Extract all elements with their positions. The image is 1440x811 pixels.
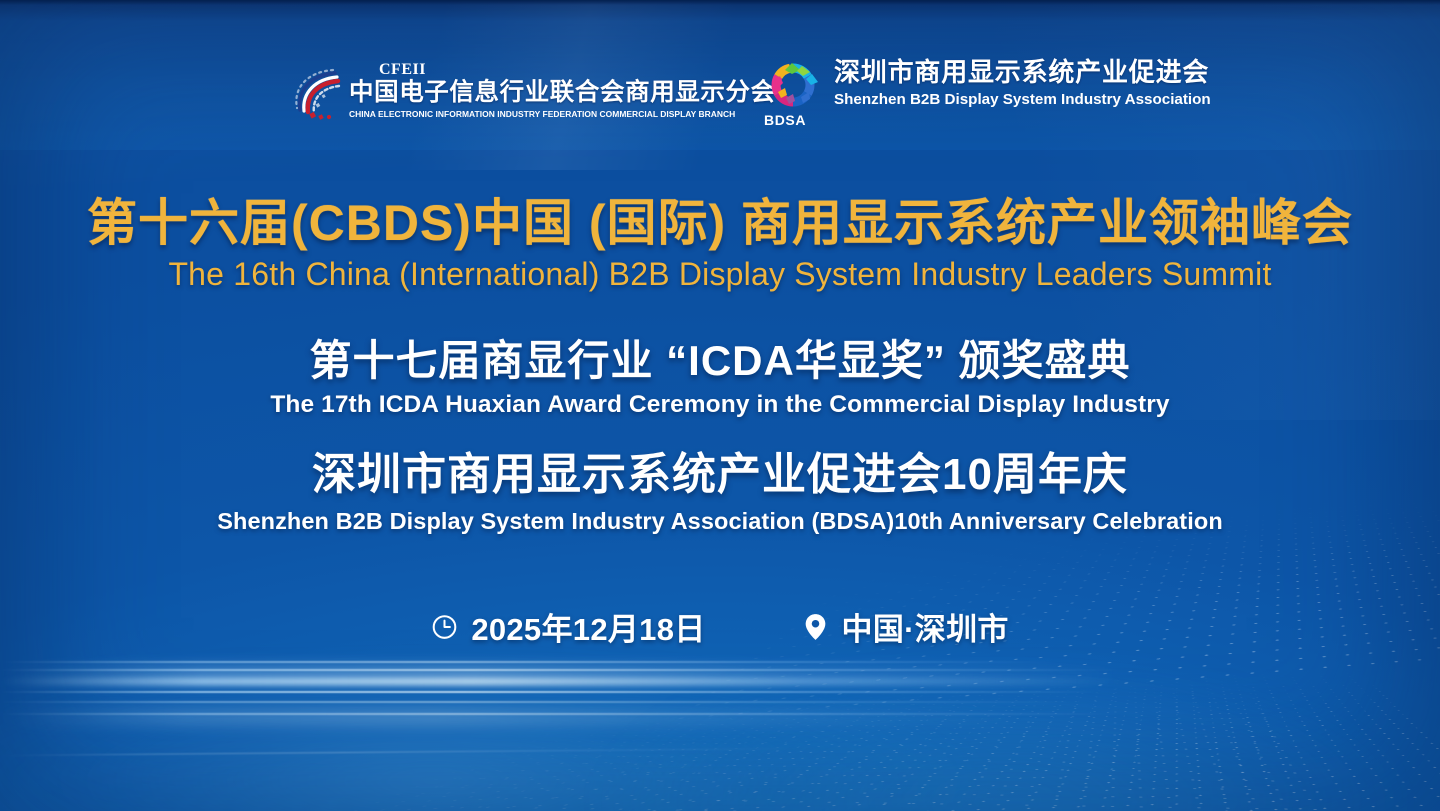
cfeii-name-en: CHINA ELECTRONIC INFORMATION INDUSTRY FE… — [349, 109, 769, 119]
event-location-text: 中国·深圳市 — [842, 604, 1009, 649]
background-light-streaks — [0, 551, 1123, 811]
event-meta-row: 2025年12月18日 中国·深圳市 — [0, 604, 1440, 649]
anniversary-title-en: Shenzhen B2B Display System Industry Ass… — [0, 507, 1440, 535]
event-location: 中国·深圳市 — [802, 604, 1009, 649]
anniversary-title-cn: 深圳市商用显示系统产业促进会10周年庆 — [0, 451, 1440, 499]
title-stack: 第十六届(CBDS)中国 (国际) 商用显示系统产业领袖峰会 The 16th … — [0, 196, 1440, 535]
event-date: 2025年12月18日 — [431, 604, 705, 649]
background-top-edge — [0, 0, 1440, 5]
bdsa-text-block: 深圳市商用显示系统产业促进会 Shenzhen B2B Display Syst… — [834, 58, 1211, 108]
summit-title-cn: 第十六届(CBDS)中国 (国际) 商用显示系统产业领袖峰会 — [0, 196, 1440, 250]
summit-title-en: The 16th China (International) B2B Displ… — [0, 256, 1440, 294]
clock-icon — [431, 612, 458, 642]
bdsa-name-en: Shenzhen B2B Display System Industry Ass… — [834, 91, 1211, 108]
bdsa-color-ring-logo-icon: BDSA — [762, 58, 824, 126]
cfeii-name-cn: 中国电子信息行业联合会商用显示分会 — [349, 80, 776, 106]
map-pin-icon — [802, 612, 829, 642]
award-title-cn: 第十七届商显行业 “ICDA华显奖” 颁奖盛典 — [0, 338, 1440, 384]
bdsa-name-cn: 深圳市商用显示系统产业促进会 — [834, 58, 1211, 87]
award-title-en: The 17th ICDA Huaxian Award Ceremony in … — [0, 390, 1440, 419]
logo-cfeii: CFEII 中国电子信息行业联合会商用显示分会 CHINA ELECTRONIC… — [283, 60, 776, 122]
event-banner: CFEII 中国电子信息行业联合会商用显示分会 CHINA ELECTRONIC… — [0, 0, 1440, 811]
cfeii-abbrev: CFEII — [379, 62, 776, 78]
bdsa-abbrev: BDSA — [764, 113, 806, 127]
logo-bdsa: BDSA 深圳市商用显示系统产业促进会 Shenzhen B2B Display… — [762, 58, 1211, 126]
cfeii-text-block: CFEII 中国电子信息行业联合会商用显示分会 CHINA ELECTRONIC… — [349, 60, 776, 119]
event-date-text: 2025年12月18日 — [471, 604, 705, 649]
logo-row: CFEII 中国电子信息行业联合会商用显示分会 CHINA ELECTRONIC… — [0, 52, 1440, 136]
cfeii-swoosh-logo-icon — [283, 60, 343, 122]
